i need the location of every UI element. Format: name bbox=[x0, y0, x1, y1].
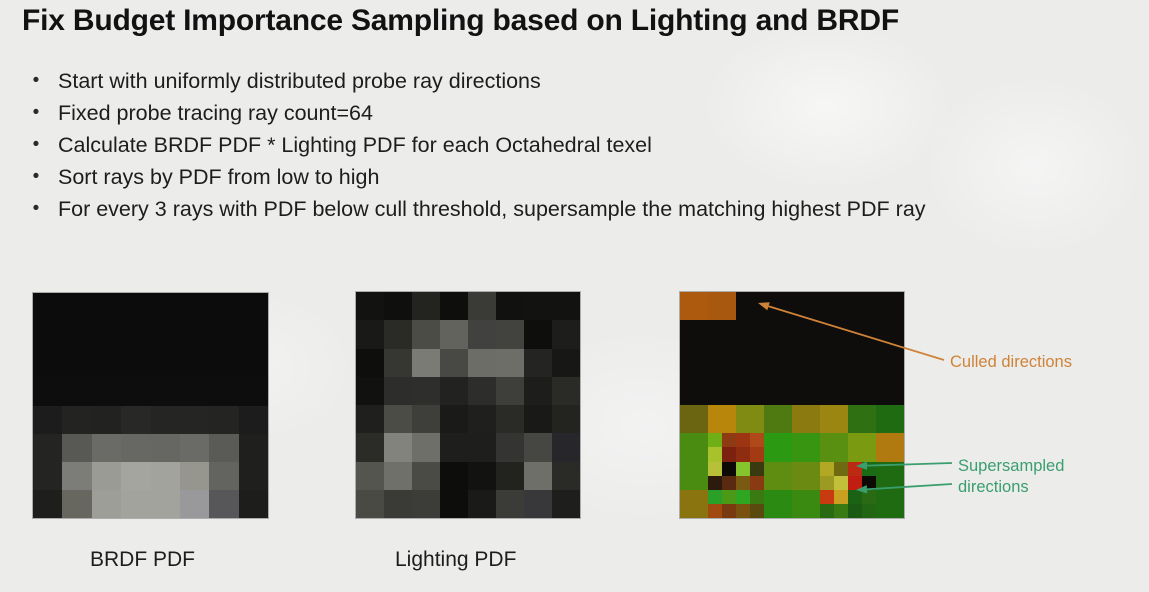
texel-subcell bbox=[862, 490, 876, 504]
texel-cell bbox=[33, 377, 62, 405]
supersampled-texel-subgrid bbox=[708, 433, 736, 461]
texel-cell bbox=[440, 320, 468, 348]
texel-subcell bbox=[750, 476, 764, 490]
texel-cell bbox=[180, 434, 209, 462]
texel-cell bbox=[412, 320, 440, 348]
texel-cell bbox=[209, 406, 238, 434]
texel-subcell bbox=[736, 447, 750, 461]
texel-cell bbox=[239, 293, 268, 321]
texel-cell bbox=[239, 462, 268, 490]
texel-cell bbox=[680, 405, 708, 433]
texel-cell bbox=[384, 405, 412, 433]
texel-cell bbox=[496, 462, 524, 490]
texel-cell bbox=[792, 405, 820, 433]
texel-subcell bbox=[834, 504, 848, 518]
texel-cell bbox=[848, 490, 876, 518]
texel-cell bbox=[708, 433, 736, 461]
texel-cell bbox=[151, 349, 180, 377]
texel-cell bbox=[680, 349, 708, 377]
texel-cell bbox=[524, 292, 552, 320]
texel-cell bbox=[820, 462, 848, 490]
texel-cell bbox=[876, 377, 904, 405]
texel-cell bbox=[384, 320, 412, 348]
texel-cell bbox=[708, 292, 736, 320]
texel-subcell bbox=[848, 504, 862, 518]
texel-cell bbox=[33, 349, 62, 377]
texel-cell bbox=[180, 462, 209, 490]
texel-cell bbox=[384, 377, 412, 405]
texel-cell bbox=[876, 405, 904, 433]
texel-cell bbox=[412, 490, 440, 518]
texel-cell bbox=[239, 377, 268, 405]
supersampled-texel-subgrid bbox=[708, 462, 736, 490]
texel-cell bbox=[552, 292, 580, 320]
texel-cell bbox=[792, 490, 820, 518]
texel-cell bbox=[92, 293, 121, 321]
texel-cell bbox=[356, 490, 384, 518]
texel-cell bbox=[792, 292, 820, 320]
texel-cell bbox=[764, 292, 792, 320]
texel-cell bbox=[121, 293, 150, 321]
texel-cell bbox=[820, 490, 848, 518]
texel-cell bbox=[384, 490, 412, 518]
texel-cell bbox=[440, 462, 468, 490]
texel-cell bbox=[180, 349, 209, 377]
texel-cell bbox=[524, 490, 552, 518]
bullet-marker-icon: • bbox=[14, 194, 58, 224]
list-item: • Calculate BRDF PDF * Lighting PDF for … bbox=[14, 130, 1134, 162]
texel-cell bbox=[524, 462, 552, 490]
texel-cell bbox=[552, 490, 580, 518]
texel-cell bbox=[121, 490, 150, 518]
figure-caption-brdf: BRDF PDF bbox=[90, 548, 195, 572]
texel-subcell bbox=[820, 490, 834, 504]
figure-brdf-pdf bbox=[33, 293, 268, 518]
texel-cell bbox=[736, 490, 764, 518]
texel-cell bbox=[92, 377, 121, 405]
texel-subcell bbox=[722, 490, 736, 504]
texel-cell bbox=[468, 349, 496, 377]
texel-cell bbox=[62, 293, 91, 321]
supersampled-texel-subgrid bbox=[736, 433, 764, 461]
texel-cell bbox=[468, 462, 496, 490]
texel-subcell bbox=[750, 433, 764, 447]
texel-cell bbox=[33, 321, 62, 349]
texel-cell bbox=[33, 490, 62, 518]
texel-subcell bbox=[736, 504, 750, 518]
texel-cell bbox=[680, 292, 708, 320]
texel-subcell bbox=[722, 433, 736, 447]
slide-root: Fix Budget Importance Sampling based on … bbox=[0, 0, 1149, 592]
texel-cell bbox=[820, 377, 848, 405]
texel-cell bbox=[792, 462, 820, 490]
texel-cell bbox=[121, 462, 150, 490]
texel-cell bbox=[496, 377, 524, 405]
texel-cell bbox=[468, 320, 496, 348]
texel-cell bbox=[680, 490, 708, 518]
texel-cell bbox=[356, 349, 384, 377]
list-item: • Start with uniformly distributed probe… bbox=[14, 66, 1134, 98]
texel-subcell bbox=[708, 433, 722, 447]
annotation-supersampled-directions: Supersampled directions bbox=[958, 456, 1064, 498]
texel-grid bbox=[680, 292, 904, 518]
texel-cell bbox=[496, 490, 524, 518]
texel-cell bbox=[848, 433, 876, 461]
texel-cell bbox=[764, 320, 792, 348]
texel-cell bbox=[151, 406, 180, 434]
texel-subcell bbox=[820, 462, 834, 476]
texel-cell bbox=[736, 349, 764, 377]
texel-cell bbox=[62, 321, 91, 349]
bullet-marker-icon: • bbox=[14, 98, 58, 128]
texel-cell bbox=[62, 434, 91, 462]
texel-cell bbox=[820, 292, 848, 320]
texel-cell bbox=[848, 462, 876, 490]
texel-cell bbox=[239, 349, 268, 377]
texel-cell bbox=[792, 433, 820, 461]
texel-subcell bbox=[722, 476, 736, 490]
texel-cell bbox=[239, 406, 268, 434]
texel-cell bbox=[820, 349, 848, 377]
texel-cell bbox=[468, 377, 496, 405]
bullet-text: For every 3 rays with PDF below cull thr… bbox=[58, 194, 926, 224]
texel-cell bbox=[440, 292, 468, 320]
texel-cell bbox=[736, 377, 764, 405]
annotation-line-1: Supersampled bbox=[958, 456, 1064, 477]
texel-cell bbox=[680, 377, 708, 405]
supersampled-texel-subgrid bbox=[736, 462, 764, 490]
supersampled-texel-subgrid bbox=[708, 490, 736, 518]
annotation-culled-directions: Culled directions bbox=[950, 352, 1072, 373]
texel-cell bbox=[708, 405, 736, 433]
texel-subcell bbox=[834, 490, 848, 504]
texel-cell bbox=[440, 377, 468, 405]
texel-cell bbox=[412, 349, 440, 377]
texel-subcell bbox=[736, 490, 750, 504]
list-item: • Sort rays by PDF from low to high bbox=[14, 162, 1134, 194]
texel-cell bbox=[33, 434, 62, 462]
texel-cell bbox=[820, 405, 848, 433]
texel-cell bbox=[151, 434, 180, 462]
texel-subcell bbox=[750, 447, 764, 461]
texel-subcell bbox=[862, 476, 876, 490]
bullet-text: Start with uniformly distributed probe r… bbox=[58, 66, 541, 96]
texel-cell bbox=[92, 321, 121, 349]
texel-grid bbox=[356, 292, 580, 518]
texel-cell bbox=[440, 349, 468, 377]
texel-subcell bbox=[722, 447, 736, 461]
texel-cell bbox=[92, 406, 121, 434]
texel-cell bbox=[736, 320, 764, 348]
supersampled-texel-subgrid bbox=[820, 462, 848, 490]
texel-subcell bbox=[708, 462, 722, 476]
texel-subcell bbox=[848, 476, 862, 490]
texel-cell bbox=[848, 377, 876, 405]
page-title: Fix Budget Importance Sampling based on … bbox=[22, 4, 899, 38]
bullet-text: Sort rays by PDF from low to high bbox=[58, 162, 379, 192]
figure-result-pdf bbox=[680, 292, 904, 518]
texel-cell bbox=[239, 434, 268, 462]
texel-cell bbox=[496, 349, 524, 377]
texel-cell bbox=[820, 433, 848, 461]
texel-cell bbox=[412, 377, 440, 405]
texel-cell bbox=[764, 349, 792, 377]
supersampled-texel-subgrid bbox=[848, 462, 876, 490]
list-item: • Fixed probe tracing ray count=64 bbox=[14, 98, 1134, 130]
texel-cell bbox=[92, 462, 121, 490]
texel-cell bbox=[356, 292, 384, 320]
texel-cell bbox=[209, 349, 238, 377]
texel-cell bbox=[764, 462, 792, 490]
texel-cell bbox=[209, 462, 238, 490]
texel-subcell bbox=[708, 504, 722, 518]
texel-cell bbox=[496, 433, 524, 461]
bullet-marker-icon: • bbox=[14, 130, 58, 160]
texel-subcell bbox=[722, 462, 736, 476]
texel-cell bbox=[552, 433, 580, 461]
annotation-line-2: directions bbox=[958, 477, 1064, 498]
list-item: • For every 3 rays with PDF below cull t… bbox=[14, 194, 1134, 226]
texel-cell bbox=[151, 462, 180, 490]
texel-cell bbox=[680, 433, 708, 461]
texel-subcell bbox=[848, 462, 862, 476]
texel-cell bbox=[708, 320, 736, 348]
texel-cell bbox=[848, 405, 876, 433]
texel-cell bbox=[412, 462, 440, 490]
texel-subcell bbox=[708, 490, 722, 504]
texel-cell bbox=[468, 292, 496, 320]
texel-cell bbox=[468, 405, 496, 433]
texel-cell bbox=[708, 377, 736, 405]
texel-cell bbox=[384, 462, 412, 490]
texel-cell bbox=[33, 462, 62, 490]
texel-cell bbox=[209, 434, 238, 462]
texel-cell bbox=[356, 433, 384, 461]
texel-subcell bbox=[834, 476, 848, 490]
texel-subcell bbox=[820, 476, 834, 490]
texel-cell bbox=[33, 293, 62, 321]
texel-cell bbox=[92, 349, 121, 377]
texel-cell bbox=[848, 320, 876, 348]
texel-cell bbox=[524, 320, 552, 348]
texel-cell bbox=[356, 405, 384, 433]
texel-cell bbox=[239, 321, 268, 349]
texel-cell bbox=[440, 433, 468, 461]
texel-cell bbox=[680, 320, 708, 348]
texel-subcell bbox=[750, 490, 764, 504]
texel-cell bbox=[384, 292, 412, 320]
texel-subcell bbox=[722, 504, 736, 518]
bullet-marker-icon: • bbox=[14, 162, 58, 192]
texel-cell bbox=[876, 490, 904, 518]
texel-cell bbox=[764, 490, 792, 518]
texel-cell bbox=[876, 433, 904, 461]
texel-cell bbox=[708, 490, 736, 518]
supersampled-texel-subgrid bbox=[848, 490, 876, 518]
texel-cell bbox=[180, 293, 209, 321]
texel-cell bbox=[680, 462, 708, 490]
supersampled-texel-subgrid bbox=[820, 490, 848, 518]
texel-cell bbox=[356, 377, 384, 405]
texel-subcell bbox=[750, 504, 764, 518]
texel-subcell bbox=[862, 462, 876, 476]
texel-cell bbox=[121, 406, 150, 434]
texel-cell bbox=[440, 490, 468, 518]
texel-cell bbox=[33, 406, 62, 434]
texel-cell bbox=[876, 462, 904, 490]
texel-cell bbox=[876, 292, 904, 320]
texel-cell bbox=[552, 320, 580, 348]
texel-cell bbox=[496, 292, 524, 320]
texel-cell bbox=[552, 405, 580, 433]
texel-cell bbox=[792, 377, 820, 405]
texel-cell bbox=[151, 321, 180, 349]
texel-cell bbox=[62, 377, 91, 405]
texel-subcell bbox=[862, 504, 876, 518]
figure-caption-lighting: Lighting PDF bbox=[395, 548, 516, 572]
bullet-text: Fixed probe tracing ray count=64 bbox=[58, 98, 373, 128]
texel-cell bbox=[356, 320, 384, 348]
texel-cell bbox=[552, 349, 580, 377]
texel-subcell bbox=[736, 476, 750, 490]
bullet-marker-icon: • bbox=[14, 66, 58, 96]
texel-cell bbox=[239, 490, 268, 518]
texel-cell bbox=[496, 405, 524, 433]
texel-cell bbox=[121, 377, 150, 405]
texel-cell bbox=[876, 349, 904, 377]
texel-cell bbox=[180, 406, 209, 434]
texel-subcell bbox=[848, 490, 862, 504]
texel-cell bbox=[468, 490, 496, 518]
texel-cell bbox=[121, 349, 150, 377]
texel-cell bbox=[764, 377, 792, 405]
texel-cell bbox=[736, 433, 764, 461]
texel-cell bbox=[151, 293, 180, 321]
texel-cell bbox=[468, 433, 496, 461]
texel-cell bbox=[736, 462, 764, 490]
texel-subcell bbox=[736, 433, 750, 447]
texel-cell bbox=[496, 320, 524, 348]
texel-cell bbox=[524, 433, 552, 461]
texel-cell bbox=[92, 490, 121, 518]
texel-cell bbox=[209, 377, 238, 405]
bullet-text: Calculate BRDF PDF * Lighting PDF for ea… bbox=[58, 130, 652, 160]
texel-cell bbox=[848, 349, 876, 377]
texel-cell bbox=[524, 405, 552, 433]
texel-cell bbox=[180, 377, 209, 405]
texel-cell bbox=[121, 434, 150, 462]
texel-subcell bbox=[708, 476, 722, 490]
texel-subcell bbox=[820, 504, 834, 518]
texel-cell bbox=[62, 406, 91, 434]
texel-cell bbox=[412, 292, 440, 320]
texel-cell bbox=[412, 405, 440, 433]
supersampled-texel-subgrid bbox=[736, 490, 764, 518]
texel-cell bbox=[792, 349, 820, 377]
texel-cell bbox=[736, 405, 764, 433]
texel-cell bbox=[764, 405, 792, 433]
texel-cell bbox=[876, 320, 904, 348]
texel-cell bbox=[708, 349, 736, 377]
texel-cell bbox=[180, 321, 209, 349]
texel-cell bbox=[524, 349, 552, 377]
texel-cell bbox=[92, 434, 121, 462]
texel-grid bbox=[33, 293, 268, 518]
texel-cell bbox=[764, 433, 792, 461]
bullet-list: • Start with uniformly distributed probe… bbox=[14, 66, 1134, 226]
texel-cell bbox=[384, 349, 412, 377]
texel-cell bbox=[62, 349, 91, 377]
texel-cell bbox=[736, 292, 764, 320]
texel-subcell bbox=[736, 462, 750, 476]
texel-subcell bbox=[750, 462, 764, 476]
texel-cell bbox=[356, 462, 384, 490]
texel-cell bbox=[209, 293, 238, 321]
texel-cell bbox=[180, 490, 209, 518]
texel-cell bbox=[524, 377, 552, 405]
texel-cell bbox=[440, 405, 468, 433]
figure-lighting-pdf bbox=[356, 292, 580, 518]
texel-cell bbox=[151, 377, 180, 405]
texel-cell bbox=[792, 320, 820, 348]
texel-cell bbox=[848, 292, 876, 320]
texel-cell bbox=[708, 462, 736, 490]
texel-cell bbox=[209, 321, 238, 349]
texel-cell bbox=[820, 320, 848, 348]
texel-cell bbox=[121, 321, 150, 349]
texel-cell bbox=[62, 462, 91, 490]
texel-cell bbox=[384, 433, 412, 461]
texel-subcell bbox=[834, 462, 848, 476]
texel-cell bbox=[552, 462, 580, 490]
texel-cell bbox=[412, 433, 440, 461]
texel-cell bbox=[209, 490, 238, 518]
texel-cell bbox=[552, 377, 580, 405]
texel-subcell bbox=[708, 447, 722, 461]
texel-cell bbox=[62, 490, 91, 518]
texel-cell bbox=[151, 490, 180, 518]
